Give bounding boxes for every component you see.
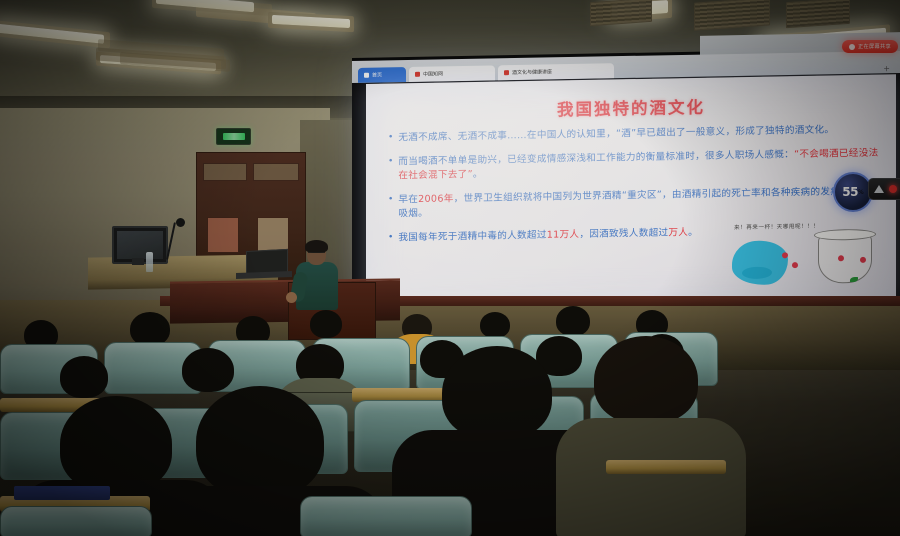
- speaker-glasses-icon: [308, 252, 325, 257]
- recording-indicator[interactable]: [868, 178, 900, 200]
- monitor-stand: [132, 258, 144, 265]
- student-head: [556, 306, 590, 336]
- exit-sign: [216, 128, 251, 145]
- slide-bullet: • 而当喝酒不单单是助兴，已经变成情感深浅和工作能力的衡量标准时，很多人职场人感…: [388, 146, 882, 184]
- door-window: [203, 163, 247, 181]
- bullet-marker: •: [388, 193, 393, 222]
- slide-title: 我国独特的酒文化: [366, 90, 896, 124]
- slide-bullet: • 早在2006年，世界卫生组织就将中国列为世界酒精“重灾区”，由酒精引起的死亡…: [388, 184, 882, 222]
- progress-badge: 55%: [833, 172, 873, 212]
- student-head: [182, 348, 234, 392]
- auditorium-seat: [0, 506, 152, 536]
- student-head: [594, 336, 698, 424]
- browser-tab-active[interactable]: 首页: [358, 67, 406, 83]
- record-dot-icon: [889, 185, 897, 193]
- bullet-marker: •: [388, 131, 393, 146]
- progress-value: 55: [842, 185, 858, 199]
- tab-label: 中国知网: [423, 70, 443, 77]
- bullet-marker: •: [388, 155, 393, 184]
- tab-favicon: [415, 72, 420, 77]
- browser-tab[interactable]: 酒文化与健康讲座: [498, 63, 614, 80]
- student-head: [480, 312, 510, 338]
- tab-favicon: [504, 70, 509, 75]
- lecture-hall-photo: 首页 中国知网 酒文化与健康讲座 + 我国独特的酒文化 • 无酒不成席、无酒不成…: [0, 0, 900, 536]
- door-window: [253, 163, 299, 181]
- tab-favicon: [364, 73, 369, 78]
- audience-seating: [0, 300, 900, 536]
- bullet-marker: •: [388, 231, 393, 246]
- student-head: [310, 310, 342, 338]
- cherry-icon: [792, 262, 798, 268]
- browser-tab[interactable]: 中国知网: [409, 65, 495, 82]
- slide-cartoon: 来！再来一杯！天哪甩呢！！！: [728, 221, 878, 298]
- leaf-icon: [850, 277, 858, 282]
- microphone-head-icon: [176, 218, 185, 227]
- new-tab-button[interactable]: +: [883, 64, 894, 73]
- student-head: [442, 346, 552, 440]
- student-shoulders: [556, 418, 746, 536]
- cartoon-caption: 来！再来一杯！天哪甩呢！！！: [734, 222, 819, 232]
- projected-slide: 我国独特的酒文化 • 无酒不成席、无酒不成事……在中国人的认知里，“酒”早已超出…: [366, 74, 896, 310]
- bullet-text: 早在2006年，世界卫生组织就将中国列为世界酒精“重灾区”，由酒精引起的死亡率和…: [398, 184, 882, 222]
- blue-blob-figure-icon: [732, 240, 788, 285]
- water-bottle: [146, 252, 153, 272]
- student-head: [60, 356, 108, 398]
- ceiling-vent: [590, 0, 652, 26]
- broadcast-icon: [874, 185, 885, 193]
- bullet-text: 无酒不成席、无酒不成事……在中国人的认知里，“酒”早已超出了一般意义，形成了独特…: [398, 123, 834, 145]
- progress-unit: %: [858, 189, 864, 196]
- slide-bullet: • 无酒不成席、无酒不成事……在中国人的认知里，“酒”早已超出了一般意义，形成了…: [388, 123, 882, 147]
- notice-label: 正在屏幕共享: [858, 43, 891, 50]
- student-head: [130, 312, 170, 346]
- notice-icon: [849, 44, 855, 50]
- tab-label: 首页: [372, 71, 382, 78]
- student-head: [196, 386, 324, 498]
- ceiling-vent: [694, 0, 770, 31]
- bullet-text: 而当喝酒不单单是助兴，已经变成情感深浅和工作能力的衡量标准时，很多人职场人感慨：…: [398, 146, 882, 184]
- student-desk: [606, 460, 726, 474]
- tab-label: 酒文化与健康讲座: [512, 68, 552, 76]
- bullet-text: 我国每年死于酒精中毒的人数超过11万人，因酒致残人数超过万人。: [398, 225, 698, 245]
- door-poster: [207, 217, 239, 253]
- notebook: [14, 486, 110, 500]
- screen-share-notice[interactable]: 正在屏幕共享: [842, 40, 898, 53]
- door-poster: [257, 217, 289, 253]
- ceiling-vent: [786, 0, 850, 28]
- auditorium-seat: [300, 496, 472, 536]
- student-head: [60, 396, 172, 492]
